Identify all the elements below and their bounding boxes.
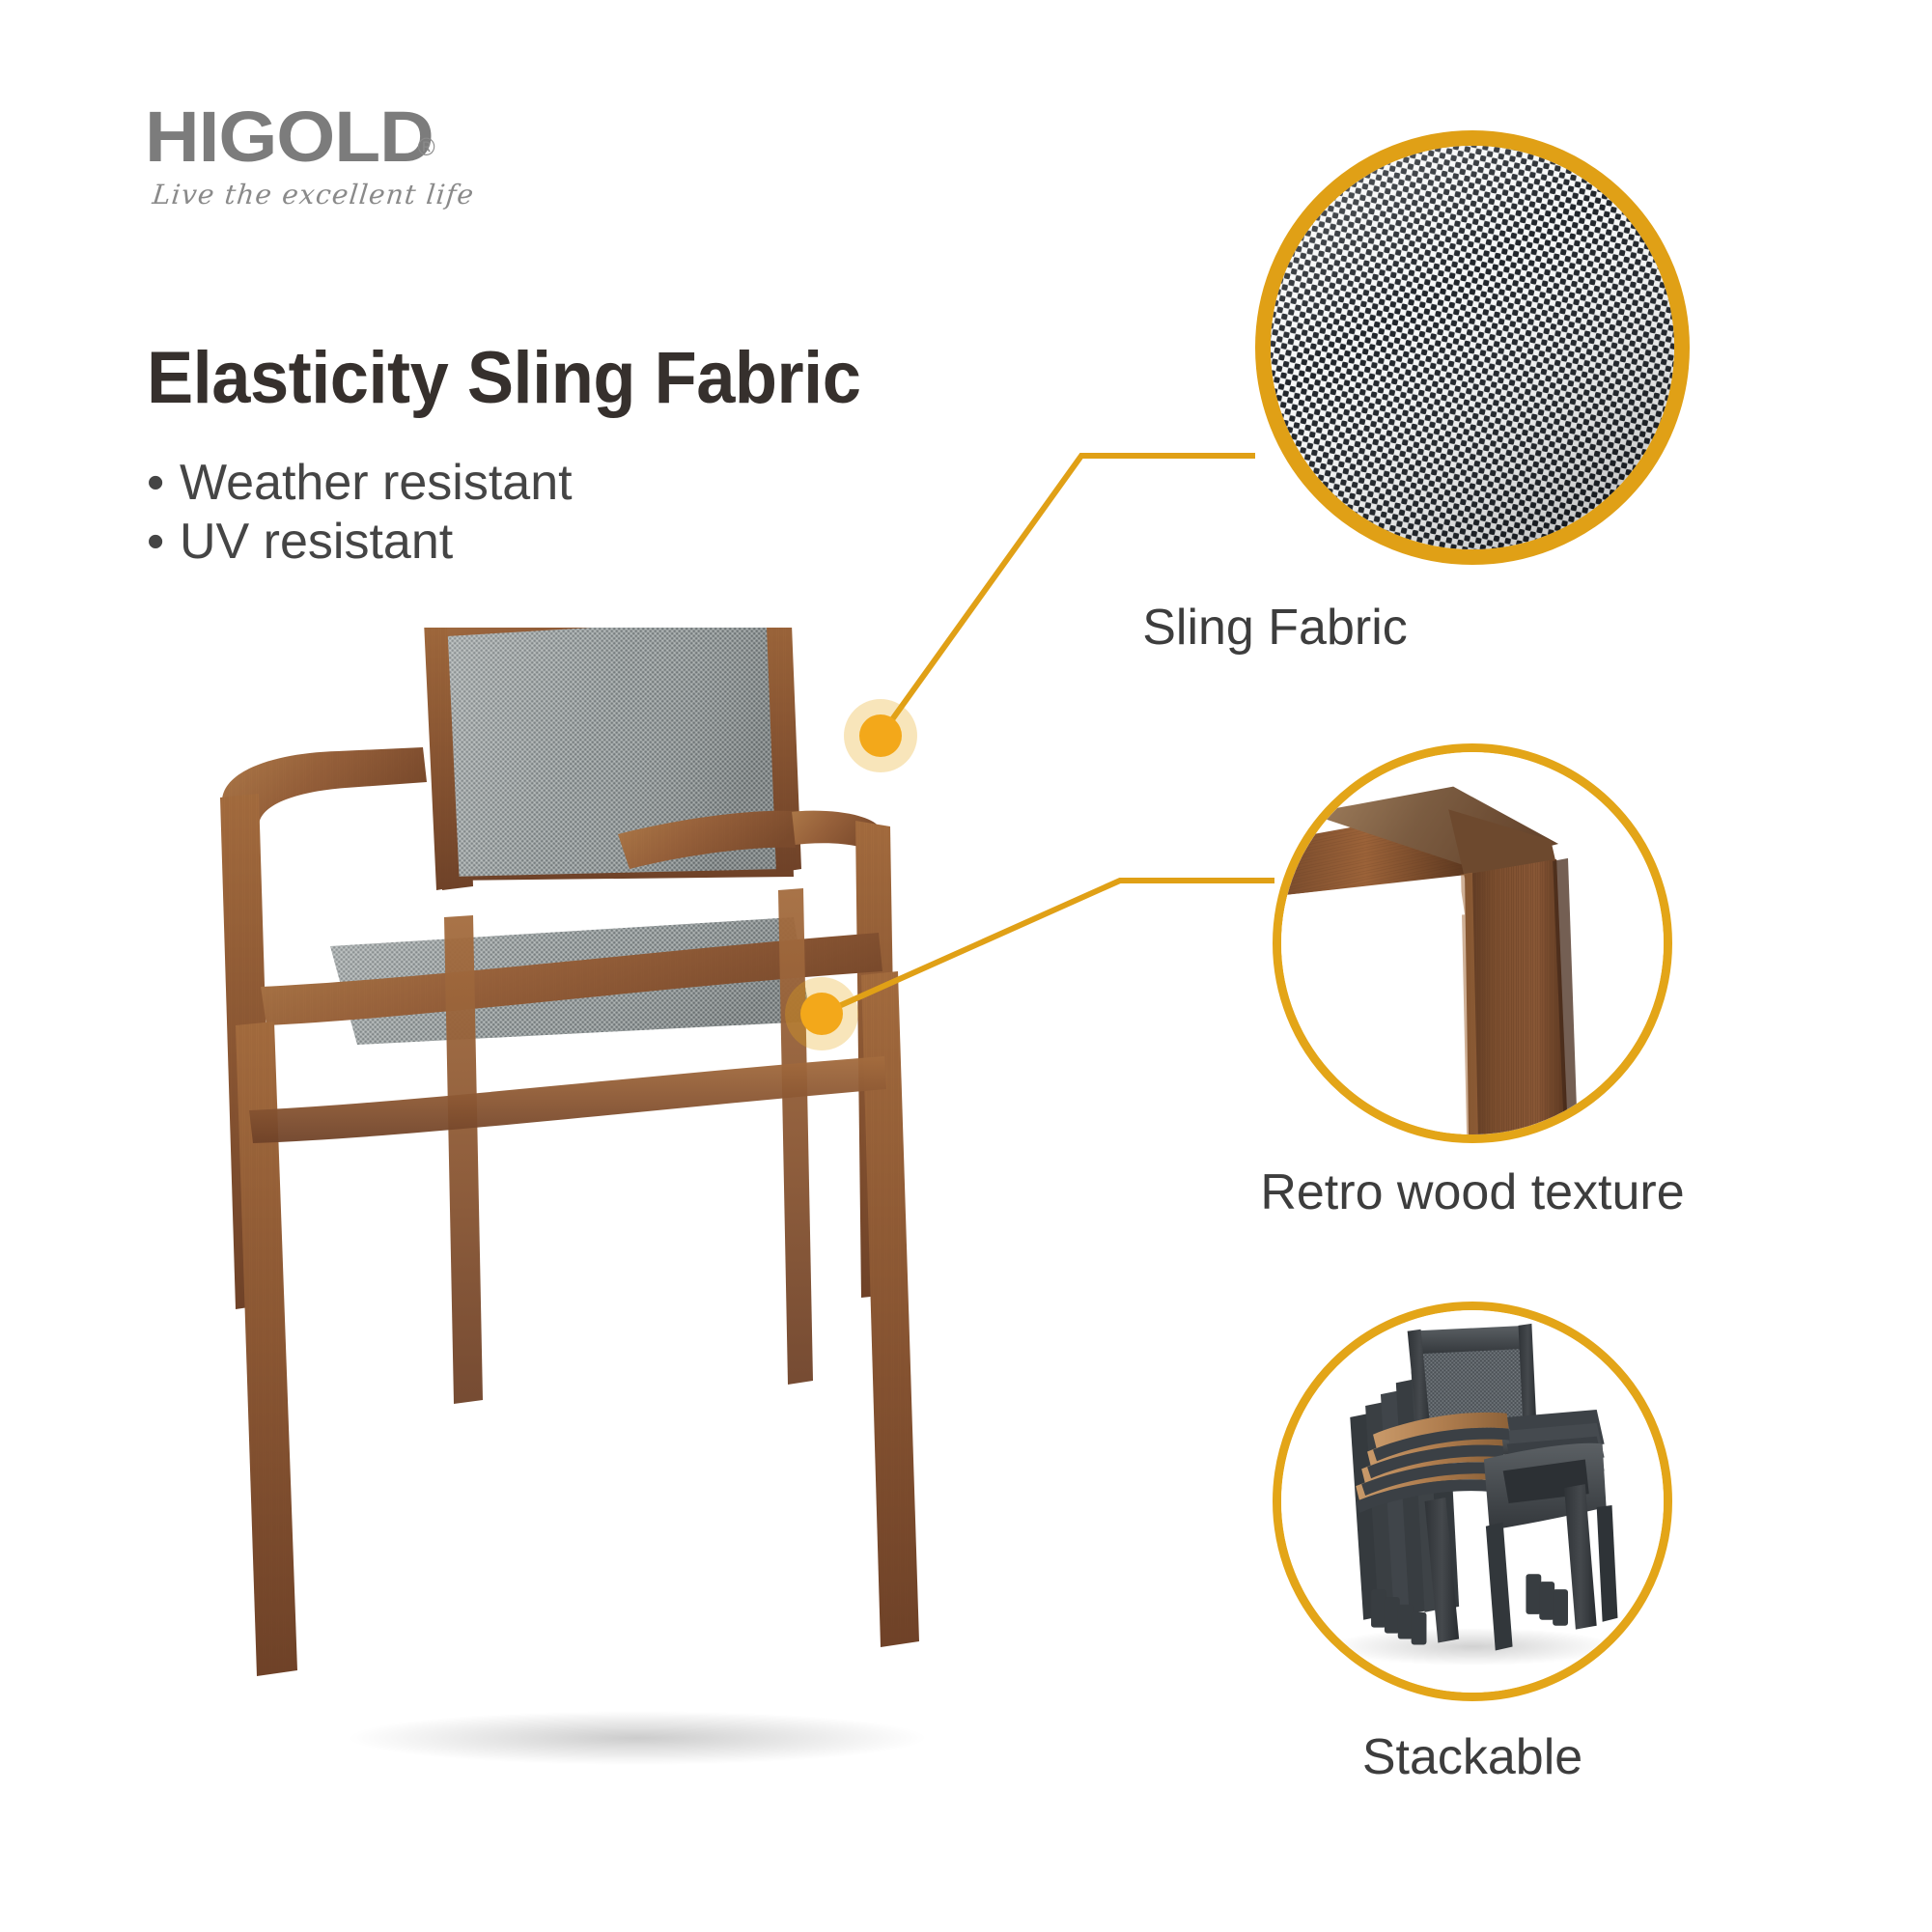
wood-corner-joint-image — [1281, 752, 1664, 1134]
page-title: Elasticity Sling Fabric — [147, 336, 860, 420]
callout-circle-sling-fabric[interactable] — [1255, 130, 1690, 565]
callout-label-stackable: Stackable — [1052, 1728, 1892, 1786]
product-image-chair — [203, 628, 1072, 1777]
registered-trademark-icon: ® — [417, 132, 434, 162]
feature-label: UV resistant — [180, 514, 453, 570]
infographic-canvas: HIGOLD® Live the excellent life Elastici… — [0, 0, 1932, 1932]
callout-label-retro-wood: Retro wood texture — [1052, 1163, 1892, 1221]
callout-circle-stackable[interactable] — [1273, 1302, 1672, 1701]
feature-list: •Weather resistant •UV resistant — [147, 454, 573, 573]
stacked-chairs-image — [1281, 1310, 1664, 1693]
list-item: •Weather resistant — [147, 454, 573, 513]
feature-label: Weather resistant — [180, 455, 573, 511]
brand-name: HIGOLD — [145, 101, 434, 173]
bullet-icon: • — [147, 513, 180, 572]
bullet-icon: • — [147, 454, 180, 513]
list-item: •UV resistant — [147, 513, 573, 572]
callout-circle-retro-wood[interactable] — [1273, 743, 1672, 1143]
brand-wordmark: HIGOLD® — [145, 101, 474, 173]
sling-fabric-macro-image — [1271, 146, 1674, 549]
callout-label-sling-fabric: Sling Fabric — [0, 599, 1932, 657]
brand-logo: HIGOLD® Live the excellent life — [145, 101, 474, 210]
brand-tagline: Live the excellent life — [151, 179, 476, 210]
